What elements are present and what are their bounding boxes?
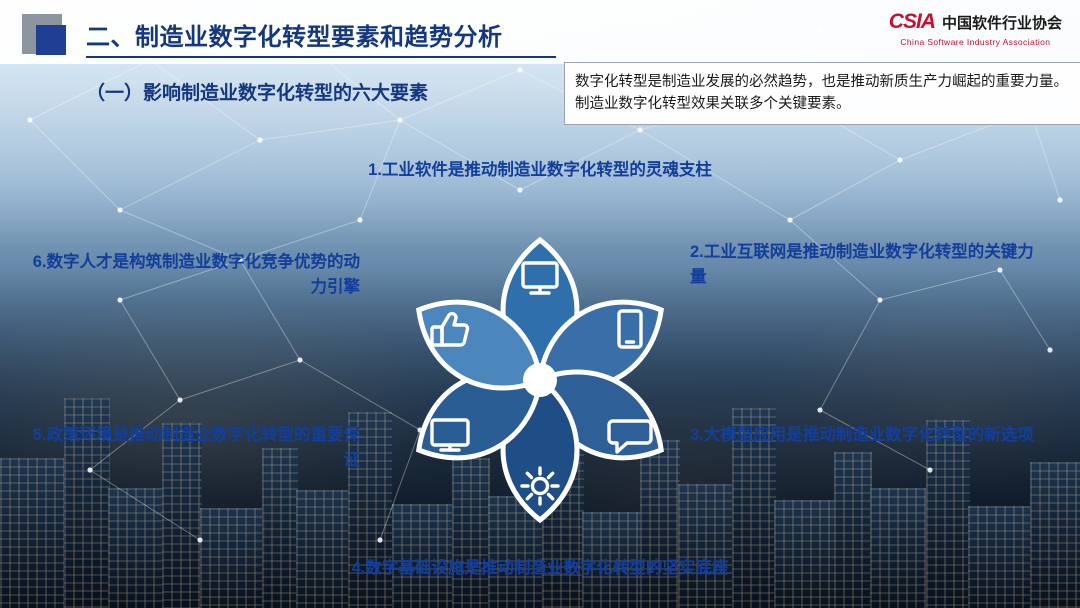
header-square-blue-icon [36, 25, 66, 55]
caption-large-model: 3.大模型应用是推动制造业数字化转型的新选项 [690, 423, 1050, 448]
six-petal-diagram [350, 190, 730, 540]
slide: 二、制造业数字化转型要素和趋势分析 CSIA 中国软件行业协会 China So… [0, 0, 1080, 608]
section-subheading: （一）影响制造业数字化转型的六大要素 [86, 78, 428, 105]
slide-header: 二、制造业数字化转型要素和趋势分析 CSIA 中国软件行业协会 China So… [0, 0, 1080, 66]
logo-chinese-name: 中国软件行业协会 [942, 12, 1062, 33]
note-box: 数字化转型是制造业发展的必然趋势，也是推动新质生产力崛起的重要力量。制造业数字化… [564, 62, 1080, 125]
caption-industrial-software: 1.工业软件是推动制造业数字化转型的灵魂支柱 [0, 158, 1080, 183]
page-title: 二、制造业数字化转型要素和趋势分析 [86, 17, 503, 52]
caption-digital-talent: 6.数字人才是构筑制造业数字化竞争优势的动力引擎 [30, 250, 360, 300]
caption-digital-infrastructure: 4.数字基础设施是推动制造业数字化转型的坚实底座 [0, 556, 1080, 581]
diagram-hub [523, 363, 557, 397]
logo-english-name: China Software Industry Association [889, 37, 1062, 47]
csia-logo: CSIA 中国软件行业协会 China Software Industry As… [889, 10, 1062, 47]
caption-policy-environment: 5.政策环境是推动制造业数字化转型的重要保证 [30, 423, 360, 473]
title-underline [86, 56, 556, 58]
logo-mark-text: CSIA [889, 10, 935, 34]
caption-industrial-internet: 2.工业互联网是推动制造业数字化转型的关键力量 [690, 240, 1050, 290]
